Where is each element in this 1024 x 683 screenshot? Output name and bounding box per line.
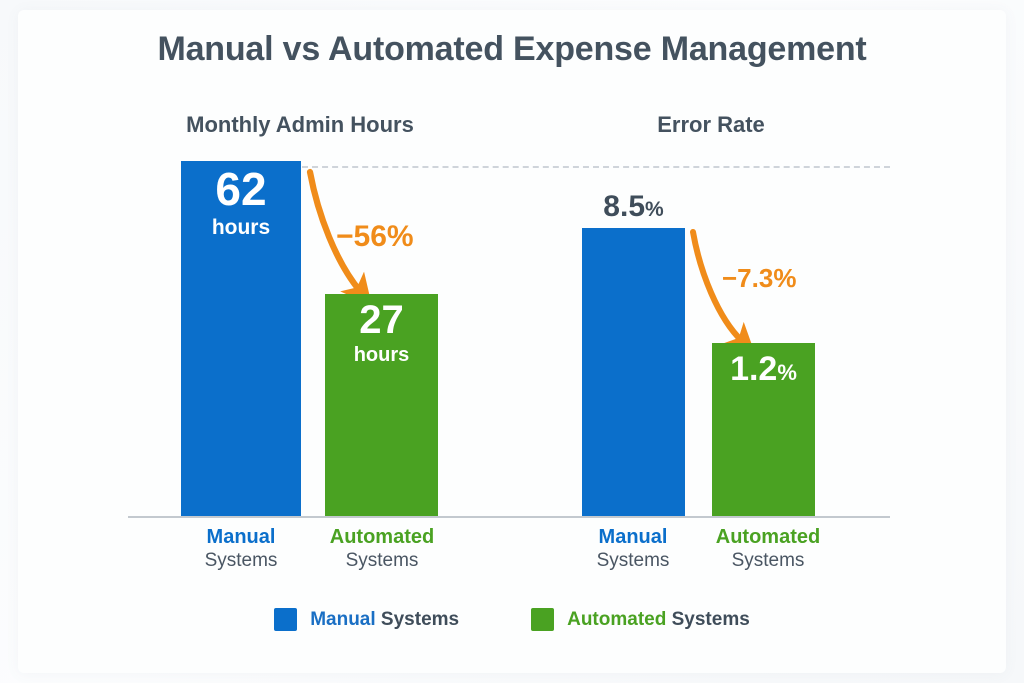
x-label-line2: Systems <box>570 550 696 572</box>
legend-label-automated-strong: Automated <box>567 609 666 630</box>
bar-unit-error-rate-manual: % <box>645 198 664 221</box>
legend-label-manual: Manual Systems <box>310 610 459 629</box>
legend-item-manual-systems[interactable]: Manual Systems <box>274 608 459 631</box>
chart-legend: Manual Systems Automated Systems <box>0 608 1024 631</box>
x-label-line2: Systems <box>320 550 444 572</box>
bar-label-error-rate-manual: 8.5% <box>582 192 685 222</box>
legend-label-manual-strong: Manual <box>310 609 375 630</box>
bar-value-monthly-admin-hours-manual: 62 <box>181 166 301 212</box>
x-label-line2: Systems <box>705 550 831 572</box>
bar-value-error-rate-automated: 1.2% <box>712 352 815 386</box>
bar-unit-monthly-admin-hours-manual: hours <box>181 217 301 238</box>
bar-unit-monthly-admin-hours-automated: hours <box>325 345 438 365</box>
legend-swatch-icon-manual <box>274 608 297 631</box>
x-label-monthly-admin-hours-automated: Automated Systems <box>320 526 444 572</box>
bar-label-monthly-admin-hours-manual: 62 hours <box>181 166 301 238</box>
bar-value-error-rate-automated-number: 1.2 <box>730 350 777 388</box>
legend-label-automated: Automated Systems <box>567 610 750 629</box>
bar-label-error-rate-automated: 1.2% <box>712 352 815 386</box>
legend-swatch-icon-automated <box>531 608 554 631</box>
bar-unit-error-rate-automated: % <box>777 360 797 385</box>
x-label-line1: Manual <box>570 526 696 550</box>
infographic-canvas: Manual vs Automated Expense Management M… <box>0 0 1024 683</box>
delta-label-error-rate: −7.3% <box>722 265 796 291</box>
bar-label-monthly-admin-hours-automated: 27 hours <box>325 300 438 365</box>
legend-label-manual-soft: Systems <box>376 609 459 630</box>
chart-title: Manual vs Automated Expense Management <box>0 30 1024 69</box>
x-label-line1: Manual <box>180 526 302 550</box>
legend-item-automated-systems[interactable]: Automated Systems <box>531 608 750 631</box>
x-label-error-rate-manual: Manual Systems <box>570 526 696 572</box>
legend-label-automated-soft: Systems <box>666 609 749 630</box>
x-label-monthly-admin-hours-manual: Manual Systems <box>180 526 302 572</box>
panel-title-error-rate: Error Rate <box>600 112 822 138</box>
x-label-line2: Systems <box>180 550 302 572</box>
x-label-error-rate-automated: Automated Systems <box>705 526 831 572</box>
bar-value-error-rate-manual: 8.5 <box>603 190 645 223</box>
x-label-line1: Automated <box>320 526 444 550</box>
panel-title-monthly-admin-hours: Monthly Admin Hours <box>150 112 450 138</box>
x-label-line1: Automated <box>705 526 831 550</box>
delta-label-monthly-admin-hours: −56% <box>336 222 414 252</box>
card-background <box>18 10 1006 673</box>
bar-value-monthly-admin-hours-automated: 27 <box>325 300 438 340</box>
